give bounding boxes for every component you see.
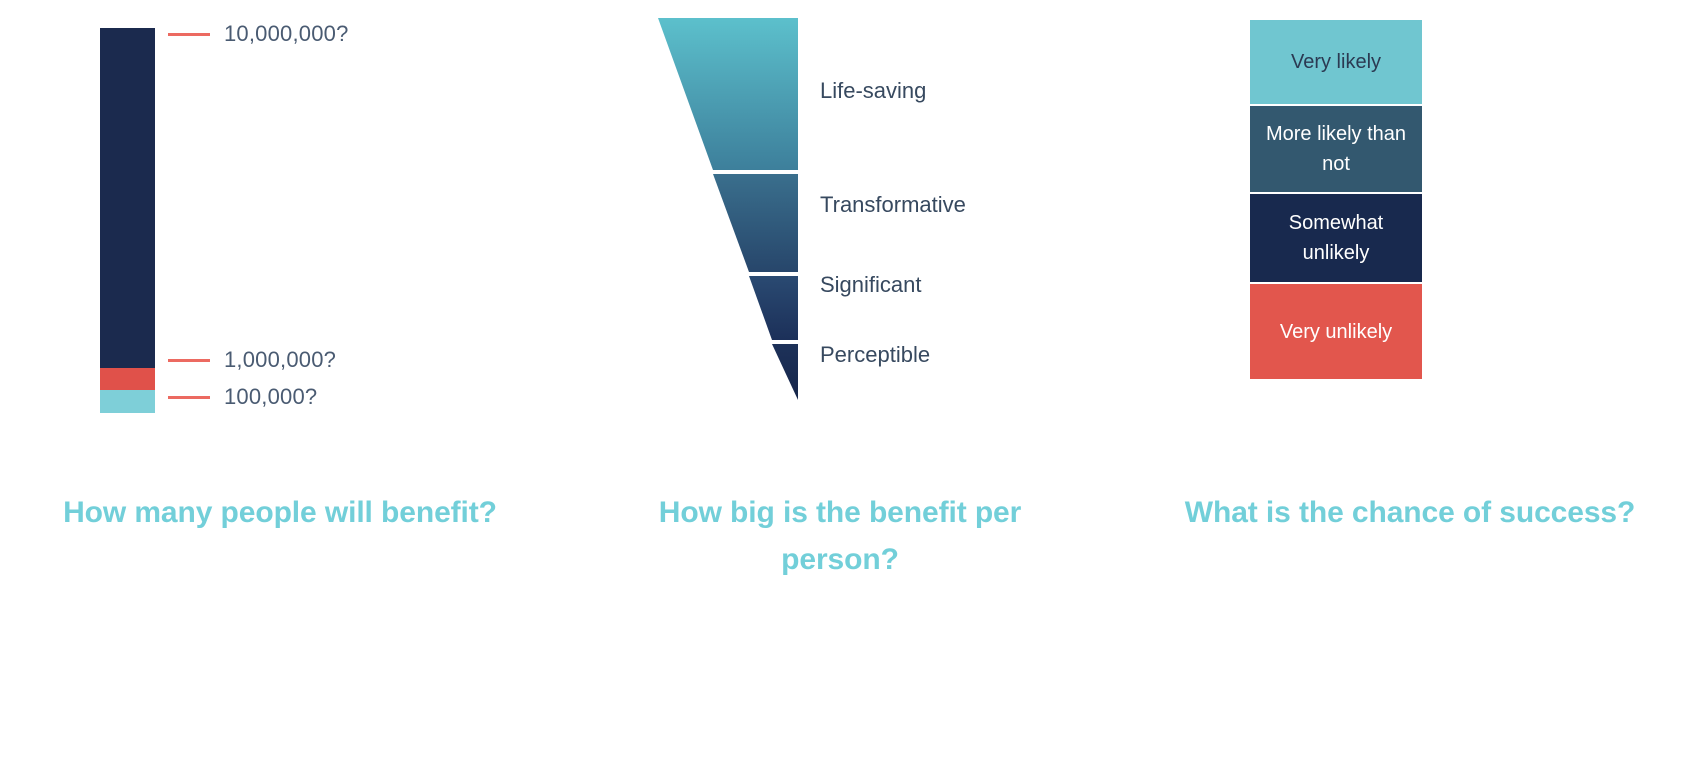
funnel-label-transformative: Transformative xyxy=(820,192,966,218)
panel-heading-magnitude: How big is the benefit per person? xyxy=(560,490,1120,583)
reach-label-text: 1,000,000? xyxy=(224,347,336,373)
reach-label-text: 100,000? xyxy=(224,384,317,410)
reach-label-100k: 100,000? xyxy=(168,384,317,410)
funnel-label-significant: Significant xyxy=(820,272,922,298)
panel-heading-reach: How many people will benefit? xyxy=(0,490,560,537)
funnel-segment-significant xyxy=(749,276,798,340)
tick-mark-icon xyxy=(168,33,210,36)
reach-bar xyxy=(100,28,155,413)
funnel-segment-life-saving xyxy=(658,18,798,170)
likelihood-segment-more-likely-than-not: More likely than not xyxy=(1250,106,1422,194)
tick-mark-icon xyxy=(168,359,210,362)
funnel-segment-perceptible xyxy=(772,344,798,400)
panel-magnitude: Life-saving Transformative Significant P… xyxy=(560,0,1120,758)
tick-mark-icon xyxy=(168,396,210,399)
likelihood-stack: Very likely More likely than not Somewha… xyxy=(1250,20,1422,379)
funnel-label-life-saving: Life-saving xyxy=(820,78,926,104)
reach-label-text: 10,000,000? xyxy=(224,21,349,47)
panel-heading-probability: What is the chance of success? xyxy=(1120,490,1700,537)
reach-segment-middle xyxy=(100,368,155,390)
funnel-label-perceptible: Perceptible xyxy=(820,342,930,368)
infographic-canvas: 10,000,000? 1,000,000? 100,000? How many… xyxy=(0,0,1700,758)
likelihood-segment-very-likely: Very likely xyxy=(1250,20,1422,106)
panel-reach: 10,000,000? 1,000,000? 100,000? How many… xyxy=(0,0,560,758)
reach-segment-high xyxy=(100,28,155,368)
funnel-chart: Life-saving Transformative Significant P… xyxy=(600,10,1080,410)
reach-label-10m: 10,000,000? xyxy=(168,21,349,47)
reach-segment-low xyxy=(100,390,155,413)
funnel-segment-transformative xyxy=(713,174,798,272)
reach-label-1m: 1,000,000? xyxy=(168,347,336,373)
panel-probability: Very likely More likely than not Somewha… xyxy=(1120,0,1700,758)
likelihood-segment-very-unlikely: Very unlikely xyxy=(1250,284,1422,379)
likelihood-segment-somewhat-unlikely: Somewhat unlikely xyxy=(1250,194,1422,284)
